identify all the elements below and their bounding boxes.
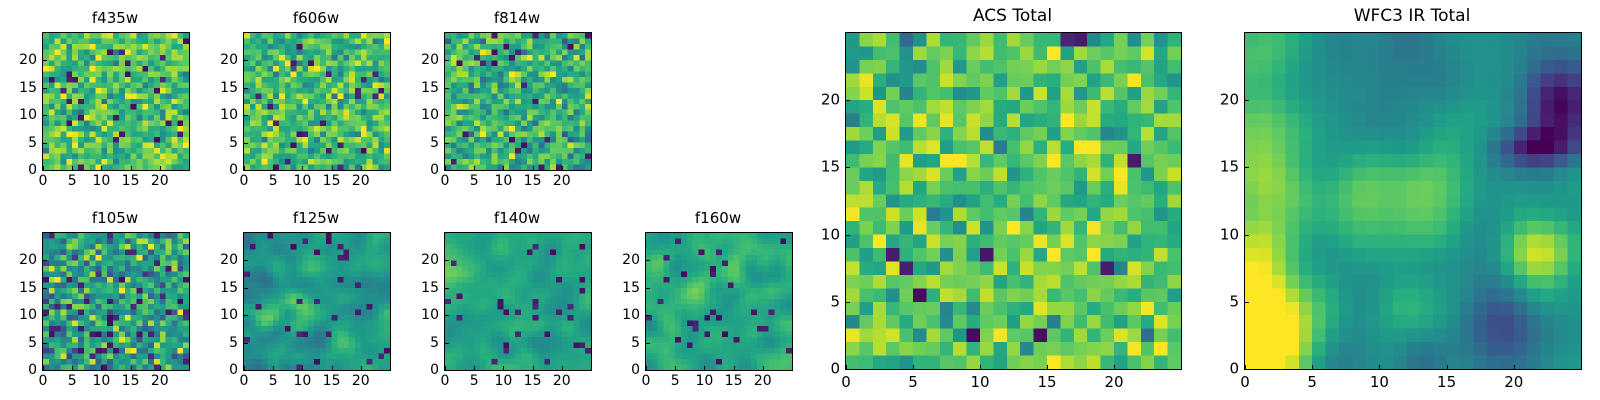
ytick-label: 20 xyxy=(399,253,439,267)
xtick-label: 20 xyxy=(151,374,169,388)
xtick-label: 10 xyxy=(293,374,311,388)
xtick-label: 5 xyxy=(671,374,680,388)
ytick-label: 5 xyxy=(0,336,37,350)
heatmap-image-f814w xyxy=(445,33,591,170)
ytick-mark xyxy=(445,315,449,316)
ytick-label: 10 xyxy=(399,308,439,322)
xtick-label: 0 xyxy=(1240,375,1250,390)
ytick-mark xyxy=(445,343,449,344)
ytick-label: 5 xyxy=(800,294,840,309)
xtick-label: 10 xyxy=(92,174,110,188)
xtick-label: 20 xyxy=(1104,375,1123,390)
ytick-label: 20 xyxy=(399,53,439,67)
panel-f606w: f606w0510152005101520 xyxy=(0,0,1600,400)
ytick-mark xyxy=(1245,369,1249,370)
xtick-mark xyxy=(913,365,914,369)
ytick-label: 0 xyxy=(198,163,238,177)
ytick-mark xyxy=(846,235,850,236)
panel-title-wfc3-ir-total: WFC3 IR Total xyxy=(1244,8,1580,25)
ytick-mark xyxy=(43,170,47,171)
xtick-mark xyxy=(361,166,362,170)
ytick-label: 0 xyxy=(800,362,840,377)
xtick-mark xyxy=(533,366,534,370)
xtick-label: 20 xyxy=(553,374,571,388)
xtick-mark xyxy=(72,166,73,170)
xtick-label: 10 xyxy=(494,374,512,388)
ytick-label: 0 xyxy=(198,363,238,377)
xtick-mark xyxy=(72,366,73,370)
xtick-label: 15 xyxy=(524,374,542,388)
ytick-mark xyxy=(43,315,47,316)
ytick-mark xyxy=(43,343,47,344)
ytick-mark xyxy=(43,260,47,261)
panel-title-f606w: f606w xyxy=(243,11,389,26)
ytick-label: 0 xyxy=(0,363,37,377)
xtick-label: 15 xyxy=(725,374,743,388)
panel-title-f125w: f125w xyxy=(243,211,389,226)
ytick-mark xyxy=(646,315,650,316)
ytick-label: 20 xyxy=(1199,93,1239,108)
panel-title-f160w: f160w xyxy=(645,211,791,226)
ytick-label: 20 xyxy=(198,53,238,67)
ytick-label: 10 xyxy=(800,227,840,242)
panel-title-f814w: f814w xyxy=(444,11,590,26)
xtick-label: 20 xyxy=(553,174,571,188)
panel-acs-total: ACS Total0510152005101520 xyxy=(0,0,1600,400)
ytick-mark xyxy=(43,143,47,144)
ytick-mark xyxy=(846,100,850,101)
ytick-label: 0 xyxy=(1199,362,1239,377)
ytick-label: 15 xyxy=(1199,160,1239,175)
xtick-mark xyxy=(273,166,274,170)
xtick-mark xyxy=(533,166,534,170)
ytick-label: 10 xyxy=(0,108,37,122)
ytick-label: 20 xyxy=(600,253,640,267)
xtick-label: 5 xyxy=(269,374,278,388)
xtick-label: 10 xyxy=(1370,375,1389,390)
heatmap-image-f125w xyxy=(244,233,390,370)
xtick-mark xyxy=(160,366,161,370)
xtick-label: 0 xyxy=(240,374,249,388)
xtick-mark xyxy=(302,366,303,370)
xtick-label: 5 xyxy=(68,374,77,388)
xtick-mark xyxy=(503,366,504,370)
xtick-mark xyxy=(980,365,981,369)
ytick-mark xyxy=(445,88,449,89)
xtick-label: 0 xyxy=(39,174,48,188)
xtick-label: 15 xyxy=(122,374,140,388)
panel-f160w: f160w0510152005101520 xyxy=(0,0,1600,400)
ytick-mark xyxy=(43,370,47,371)
heatmap-f435w xyxy=(42,32,190,171)
xtick-label: 20 xyxy=(352,174,370,188)
ytick-mark xyxy=(445,288,449,289)
xtick-label: 5 xyxy=(68,174,77,188)
panel-f435w: f435w0510152005101520 xyxy=(0,0,1600,400)
xtick-mark xyxy=(474,366,475,370)
heatmap-image-f105w xyxy=(43,233,189,370)
heatmap-image-wfc3-ir-total xyxy=(1245,33,1581,369)
xtick-label: 10 xyxy=(970,375,989,390)
xtick-label: 15 xyxy=(1437,375,1456,390)
ytick-mark xyxy=(1245,167,1249,168)
ytick-mark xyxy=(244,170,248,171)
xtick-label: 5 xyxy=(470,374,479,388)
xtick-label: 5 xyxy=(470,174,479,188)
xtick-label: 15 xyxy=(323,174,341,188)
ytick-label: 5 xyxy=(198,136,238,150)
ytick-label: 5 xyxy=(600,336,640,350)
heatmap-image-acs-total xyxy=(846,33,1181,369)
xtick-label: 10 xyxy=(695,374,713,388)
panel-title-acs-total: ACS Total xyxy=(845,8,1180,25)
ytick-mark xyxy=(244,115,248,116)
xtick-mark xyxy=(1379,365,1380,369)
xtick-mark xyxy=(101,166,102,170)
xtick-label: 20 xyxy=(151,174,169,188)
xtick-mark xyxy=(332,366,333,370)
ytick-mark xyxy=(244,315,248,316)
panel-f125w: f125w0510152005101520 xyxy=(0,0,1600,400)
xtick-label: 20 xyxy=(1504,375,1523,390)
ytick-label: 15 xyxy=(399,281,439,295)
ytick-mark xyxy=(1245,302,1249,303)
xtick-mark xyxy=(332,166,333,170)
xtick-mark xyxy=(1514,365,1515,369)
ytick-mark xyxy=(1245,100,1249,101)
xtick-mark xyxy=(302,166,303,170)
ytick-mark xyxy=(244,143,248,144)
ytick-mark xyxy=(445,170,449,171)
xtick-label: 10 xyxy=(494,174,512,188)
heatmap-f160w xyxy=(645,232,793,371)
xtick-mark xyxy=(474,166,475,170)
xtick-mark xyxy=(763,366,764,370)
heatmap-f814w xyxy=(444,32,592,171)
ytick-label: 10 xyxy=(0,308,37,322)
ytick-mark xyxy=(43,115,47,116)
xtick-mark xyxy=(1245,365,1246,369)
xtick-label: 5 xyxy=(269,174,278,188)
xtick-mark xyxy=(562,366,563,370)
ytick-mark xyxy=(244,343,248,344)
xtick-label: 15 xyxy=(323,374,341,388)
panel-title-f105w: f105w xyxy=(42,211,188,226)
xtick-mark xyxy=(675,366,676,370)
xtick-mark xyxy=(160,166,161,170)
ytick-label: 10 xyxy=(399,108,439,122)
xtick-label: 20 xyxy=(352,374,370,388)
heatmap-image-f140w xyxy=(445,233,591,370)
xtick-mark xyxy=(1114,365,1115,369)
heatmap-wfc3-ir-total xyxy=(1244,32,1582,370)
ytick-mark xyxy=(646,260,650,261)
ytick-label: 15 xyxy=(0,81,37,95)
ytick-label: 15 xyxy=(399,81,439,95)
xtick-label: 0 xyxy=(841,375,851,390)
figure-canvas: f435w0510152005101520f606w05101520051015… xyxy=(0,0,1600,400)
ytick-label: 15 xyxy=(800,160,840,175)
ytick-mark xyxy=(445,143,449,144)
ytick-label: 0 xyxy=(399,363,439,377)
xtick-label: 15 xyxy=(122,174,140,188)
ytick-mark xyxy=(244,88,248,89)
panel-wfc3-ir-total: WFC3 IR Total0510152005101520 xyxy=(0,0,1600,400)
xtick-label: 5 xyxy=(1307,375,1317,390)
xtick-mark xyxy=(734,366,735,370)
xtick-label: 0 xyxy=(642,374,651,388)
xtick-mark xyxy=(1447,365,1448,369)
ytick-mark xyxy=(646,343,650,344)
xtick-label: 0 xyxy=(441,374,450,388)
heatmap-image-f435w xyxy=(43,33,189,170)
ytick-mark xyxy=(244,288,248,289)
ytick-label: 10 xyxy=(600,308,640,322)
ytick-mark xyxy=(445,370,449,371)
heatmap-acs-total xyxy=(845,32,1182,370)
ytick-label: 20 xyxy=(198,253,238,267)
ytick-mark xyxy=(244,370,248,371)
ytick-label: 5 xyxy=(399,336,439,350)
ytick-mark xyxy=(43,88,47,89)
xtick-mark xyxy=(846,365,847,369)
ytick-label: 15 xyxy=(0,281,37,295)
xtick-label: 20 xyxy=(754,374,772,388)
xtick-mark xyxy=(101,366,102,370)
ytick-label: 5 xyxy=(198,336,238,350)
xtick-label: 10 xyxy=(92,374,110,388)
ytick-label: 10 xyxy=(1199,227,1239,242)
panel-f140w: f140w0510152005101520 xyxy=(0,0,1600,400)
xtick-mark xyxy=(244,166,245,170)
xtick-mark xyxy=(244,366,245,370)
ytick-label: 20 xyxy=(0,253,37,267)
ytick-mark xyxy=(445,60,449,61)
ytick-label: 20 xyxy=(0,53,37,67)
panel-title-f140w: f140w xyxy=(444,211,590,226)
xtick-mark xyxy=(445,166,446,170)
panel-title-f435w: f435w xyxy=(42,11,188,26)
xtick-label: 0 xyxy=(240,174,249,188)
ytick-mark xyxy=(244,260,248,261)
xtick-label: 10 xyxy=(293,174,311,188)
xtick-mark xyxy=(503,166,504,170)
heatmap-image-f606w xyxy=(244,33,390,170)
xtick-mark xyxy=(646,366,647,370)
xtick-label: 15 xyxy=(524,174,542,188)
ytick-mark xyxy=(1245,235,1249,236)
xtick-mark xyxy=(43,166,44,170)
ytick-label: 0 xyxy=(0,163,37,177)
ytick-mark xyxy=(445,260,449,261)
xtick-mark xyxy=(131,166,132,170)
xtick-label: 15 xyxy=(1037,375,1056,390)
ytick-label: 10 xyxy=(198,308,238,322)
ytick-label: 5 xyxy=(0,136,37,150)
xtick-mark xyxy=(131,366,132,370)
xtick-mark xyxy=(445,366,446,370)
ytick-label: 0 xyxy=(399,163,439,177)
ytick-mark xyxy=(43,60,47,61)
ytick-mark xyxy=(43,288,47,289)
ytick-label: 20 xyxy=(800,93,840,108)
ytick-mark xyxy=(445,115,449,116)
panel-f814w: f814w0510152005101520 xyxy=(0,0,1600,400)
ytick-label: 15 xyxy=(600,281,640,295)
panel-f105w: f105w0510152005101520 xyxy=(0,0,1600,400)
heatmap-f105w xyxy=(42,232,190,371)
ytick-mark xyxy=(646,370,650,371)
xtick-mark xyxy=(273,366,274,370)
xtick-mark xyxy=(43,366,44,370)
ytick-label: 15 xyxy=(198,281,238,295)
heatmap-f140w xyxy=(444,232,592,371)
xtick-label: 0 xyxy=(441,174,450,188)
ytick-mark xyxy=(244,60,248,61)
xtick-label: 0 xyxy=(39,374,48,388)
heatmap-f125w xyxy=(243,232,391,371)
ytick-label: 15 xyxy=(198,81,238,95)
heatmap-image-f160w xyxy=(646,233,792,370)
ytick-mark xyxy=(846,167,850,168)
ytick-mark xyxy=(846,369,850,370)
ytick-label: 5 xyxy=(399,136,439,150)
xtick-mark xyxy=(562,166,563,170)
ytick-label: 5 xyxy=(1199,294,1239,309)
ytick-label: 0 xyxy=(600,363,640,377)
ytick-mark xyxy=(646,288,650,289)
ytick-label: 10 xyxy=(198,108,238,122)
xtick-label: 5 xyxy=(908,375,918,390)
xtick-mark xyxy=(361,366,362,370)
xtick-mark xyxy=(1312,365,1313,369)
heatmap-f606w xyxy=(243,32,391,171)
xtick-mark xyxy=(1047,365,1048,369)
ytick-mark xyxy=(846,302,850,303)
xtick-mark xyxy=(704,366,705,370)
